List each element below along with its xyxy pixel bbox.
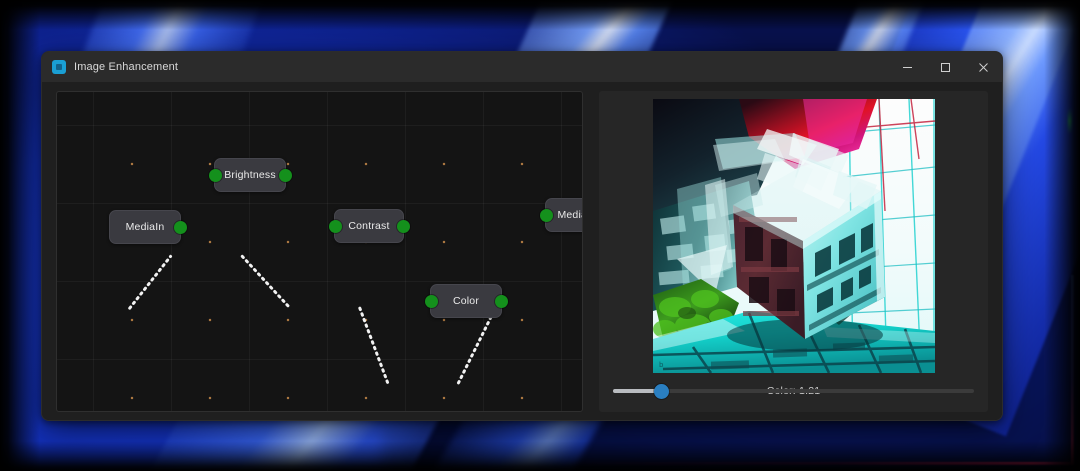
node-color[interactable]: Color bbox=[430, 284, 502, 318]
node-canvas[interactable]: MediaIn Brightness Contrast bbox=[56, 91, 583, 412]
minimize-icon bbox=[902, 62, 913, 73]
node-output-port[interactable] bbox=[495, 295, 508, 308]
slider-thumb[interactable] bbox=[654, 384, 669, 399]
title-bar[interactable]: Image Enhancement bbox=[42, 52, 1002, 82]
node-label: MediaOut bbox=[557, 209, 583, 221]
app-square-icon bbox=[52, 60, 66, 74]
preview-frame[interactable]: b bbox=[653, 99, 935, 373]
wallpaper-magenta-accent-v bbox=[1071, 275, 1074, 465]
close-icon bbox=[978, 62, 989, 73]
node-label: MediaIn bbox=[126, 221, 165, 233]
svg-text:b: b bbox=[659, 361, 664, 369]
desktop-background: Image Enhancement bbox=[0, 0, 1080, 471]
app-window: Image Enhancement bbox=[41, 51, 1003, 421]
node-input-port[interactable] bbox=[540, 209, 553, 222]
maximize-button[interactable] bbox=[926, 52, 964, 82]
preview-image: b bbox=[653, 99, 935, 373]
node-input-port[interactable] bbox=[329, 220, 342, 233]
node-input-port[interactable] bbox=[209, 169, 222, 182]
window-title: Image Enhancement bbox=[74, 61, 178, 73]
wire-mediain-brightness bbox=[130, 256, 171, 308]
wire-contrast-color bbox=[360, 308, 388, 383]
minimize-button[interactable] bbox=[888, 52, 926, 82]
node-label: Brightness bbox=[224, 169, 276, 181]
close-button[interactable] bbox=[964, 52, 1002, 82]
node-output-port[interactable] bbox=[279, 169, 292, 182]
node-graph-panel: MediaIn Brightness Contrast bbox=[56, 91, 583, 412]
node-connections bbox=[57, 92, 582, 411]
node-output-port[interactable] bbox=[174, 221, 187, 234]
wallpaper-green-accent bbox=[1068, 108, 1072, 134]
node-output-port[interactable] bbox=[397, 220, 410, 233]
preview-panel: b Color: 1.21 bbox=[599, 91, 988, 412]
window-body: MediaIn Brightness Contrast bbox=[42, 82, 1002, 421]
slider-track[interactable] bbox=[613, 389, 974, 393]
node-label: Contrast bbox=[348, 220, 389, 232]
node-mediain[interactable]: MediaIn bbox=[109, 210, 181, 244]
node-label: Color bbox=[453, 295, 479, 307]
wallpaper-magenta-accent bbox=[554, 462, 1074, 465]
node-contrast[interactable]: Contrast bbox=[334, 209, 404, 243]
node-input-port[interactable] bbox=[425, 295, 438, 308]
maximize-icon bbox=[940, 62, 951, 73]
wire-brightness-contrast bbox=[242, 256, 290, 308]
window-controls bbox=[888, 52, 1002, 82]
color-slider[interactable] bbox=[613, 384, 974, 398]
node-brightness[interactable]: Brightness bbox=[214, 158, 286, 192]
node-mediaout[interactable]: MediaOut bbox=[545, 198, 583, 232]
